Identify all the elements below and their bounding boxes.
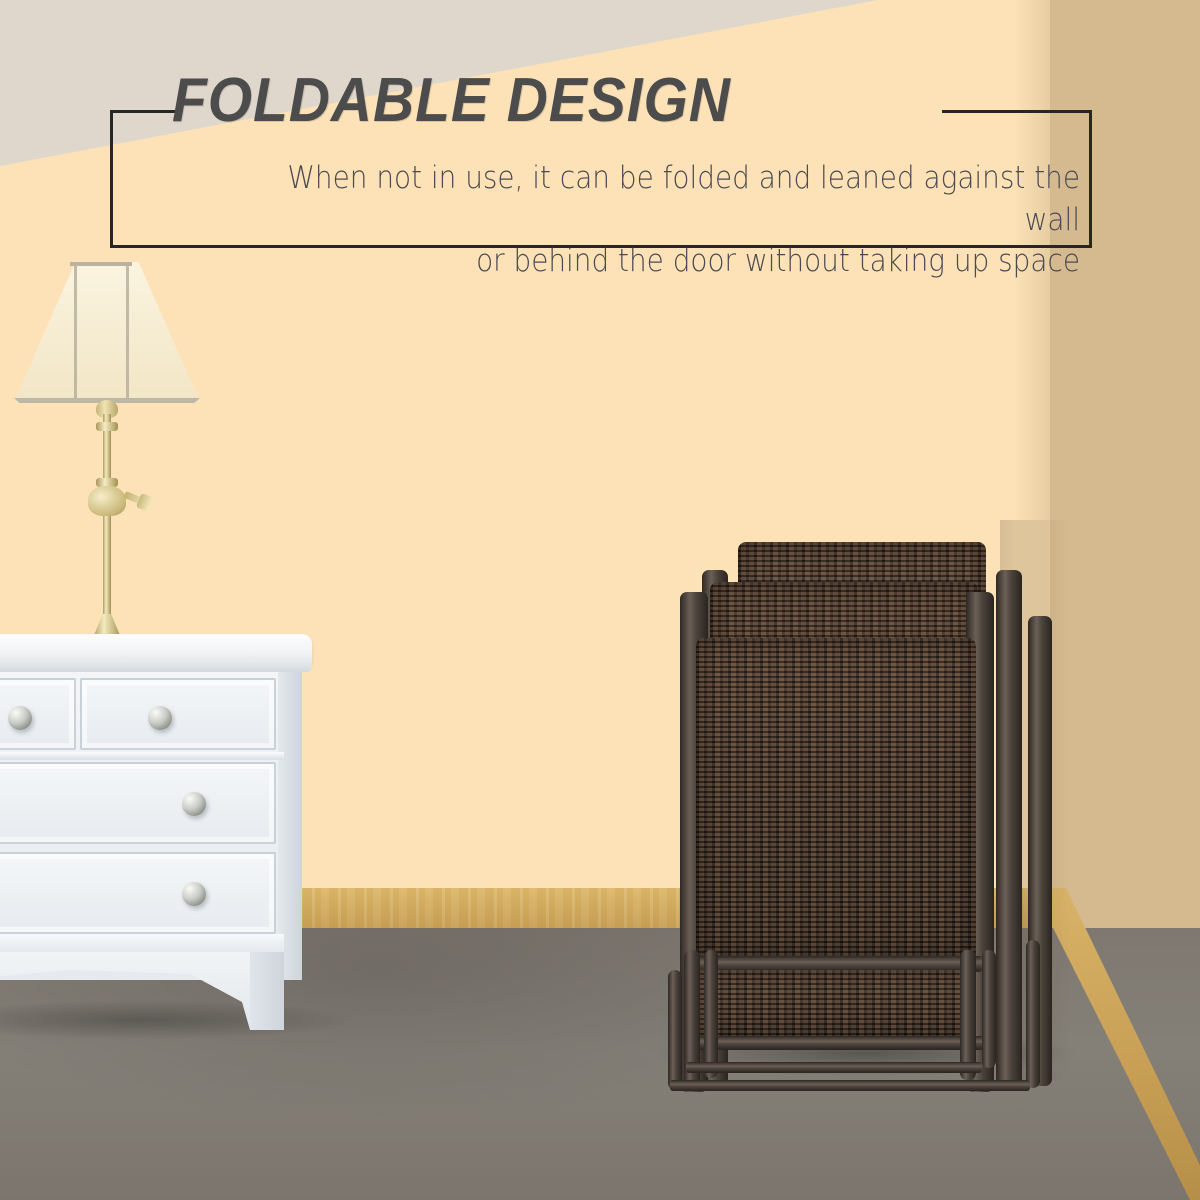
frame-right-edge (1089, 110, 1092, 248)
dresser-apron (0, 934, 284, 954)
lamp-shade-rim-top (70, 262, 132, 266)
drawer-knob[interactable] (182, 882, 206, 906)
dresser-plinth (0, 952, 284, 1030)
chair-leg (704, 950, 718, 1078)
chair-leg (960, 950, 976, 1080)
table-lamp (8, 262, 208, 654)
white-dresser (0, 634, 320, 1024)
dresser-plinth-side (250, 952, 284, 1030)
dresser-rail (0, 752, 284, 760)
banner-subtitle: When not in use, it can be folded and le… (243, 158, 1080, 283)
chair-leg (982, 950, 996, 1068)
dresser-drawer[interactable] (80, 678, 276, 750)
dresser-top-edge (0, 660, 312, 672)
chair-leg (1026, 940, 1040, 1088)
chair-crossbar (684, 1036, 984, 1050)
lamp-stem (103, 414, 111, 640)
lamp-shade-seam (126, 262, 129, 402)
drawer-knob[interactable] (8, 706, 32, 730)
chair-crossbar (686, 1062, 982, 1073)
frame-left-edge (110, 110, 113, 248)
chair-leg (668, 970, 682, 1090)
chair-seat-panel (696, 970, 976, 1040)
drawer-knob[interactable] (148, 706, 172, 730)
banner-title: FOLDABLE DESIGN (172, 70, 731, 132)
chair-crossbar (670, 1080, 1030, 1091)
drawer-knob[interactable] (182, 792, 206, 816)
chair-front-back-panel (696, 638, 976, 958)
lamp-switch-knob[interactable] (88, 486, 126, 516)
frame-top-right-segment (942, 110, 1092, 113)
product-feature-scene: FOLDABLE DESIGN When not in use, it can … (0, 0, 1200, 1200)
lamp-switch-arm[interactable] (123, 491, 146, 506)
folded-rattan-chairs (660, 520, 1060, 1080)
chair-rear-post-right (996, 570, 1022, 1090)
lamp-shade-seam (74, 262, 77, 402)
dresser-drawer[interactable] (0, 762, 276, 844)
lamp-collar (96, 422, 118, 431)
dresser-drawer[interactable] (0, 852, 276, 934)
